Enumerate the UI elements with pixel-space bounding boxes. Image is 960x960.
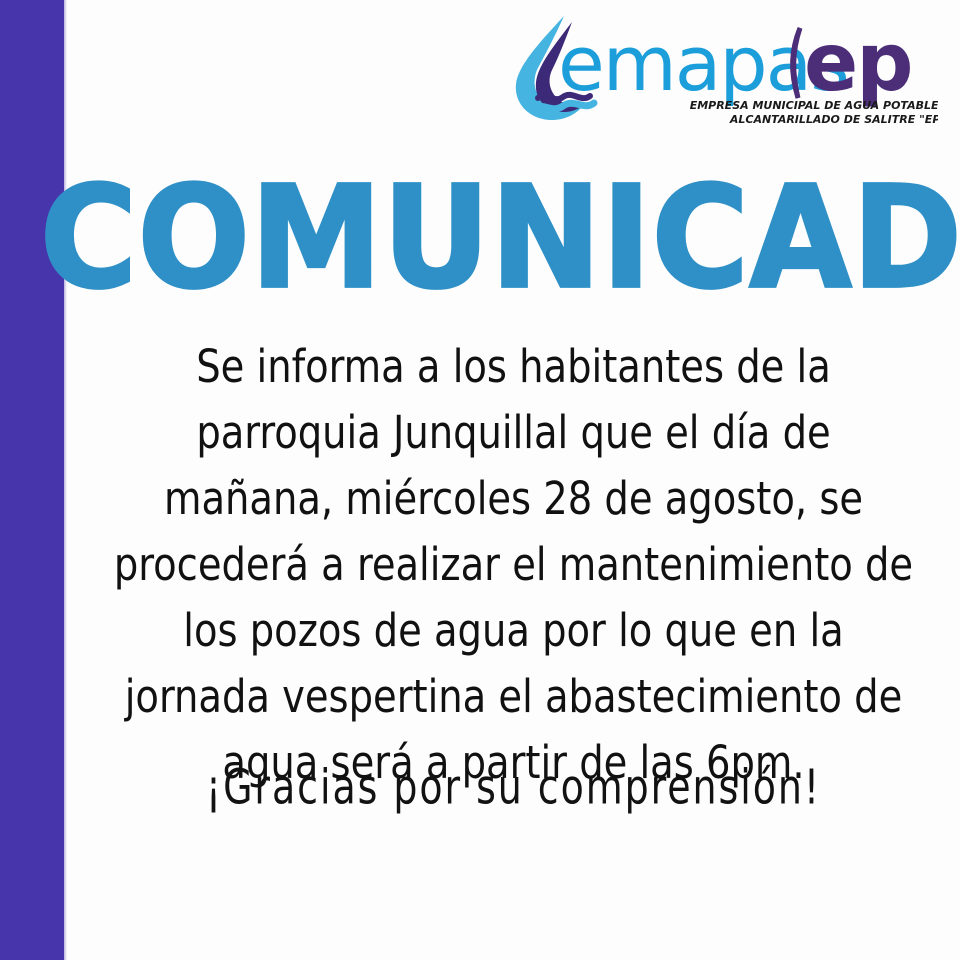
body-line: mañana, miércoles 28 de agosto, se [97,466,930,532]
body-line: procederá a realizar el mantenimiento de [97,532,930,598]
body-line: parroquia Junquillal que el día de [97,400,930,466]
body-line: Se informa a los habitantes de la [97,334,930,400]
poster-content: emapas ep EMPRESA MUNICIPAL DE AGUA POTA… [67,0,960,960]
emapas-ep-logo: emapas ep EMPRESA MUNICIPAL DE AGUA POTA… [498,10,938,128]
body-line: jornada vespertina el abastecimiento de [97,664,930,730]
page-title: COMUNICADO [40,168,960,309]
left-accent-band [0,0,64,960]
logo-artwork: emapas ep EMPRESA MUNICIPAL DE AGUA POTA… [498,10,938,128]
closing-message: ¡Gracias por su comprensión! [84,760,943,816]
announcement-body: Se informa a los habitantes de la parroq… [97,334,930,796]
logo-tagline-line1: EMPRESA MUNICIPAL DE AGUA POTABLE Y [690,99,938,112]
body-line: los pozos de agua por lo que en la [97,598,930,664]
comunicado-poster: emapas ep EMPRESA MUNICIPAL DE AGUA POTA… [0,0,960,960]
logo-tagline-line2: ALCANTARILLADO DE SALITRE "EP" [729,113,938,126]
logo-wordmark-ep: ep [804,16,912,109]
